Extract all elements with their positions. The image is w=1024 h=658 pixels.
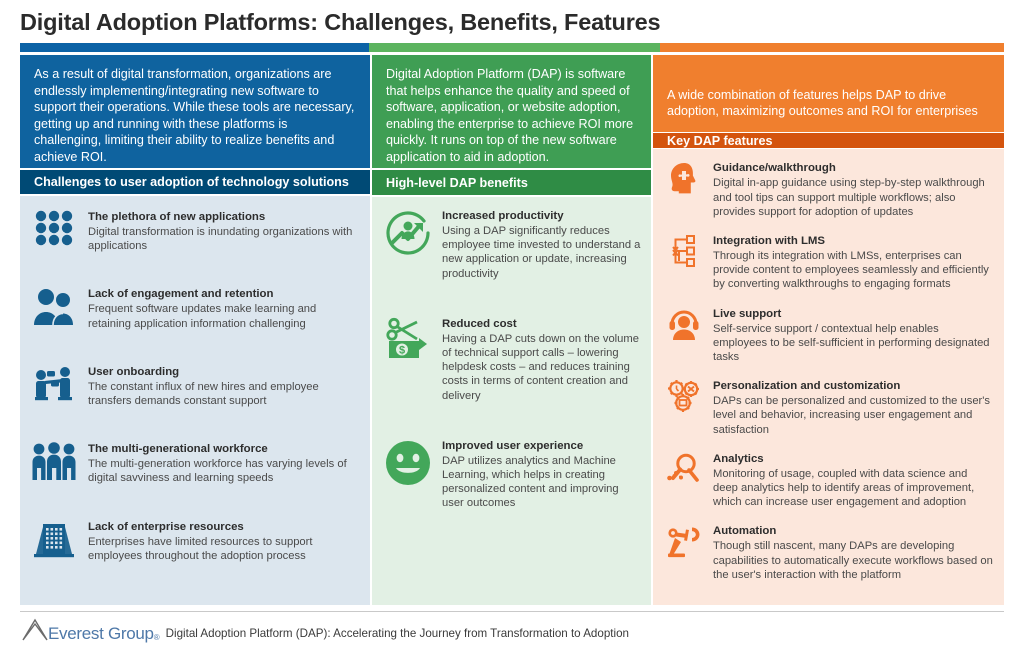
list-item-title: Guidance/walkthrough <box>713 161 994 175</box>
page-title: Digital Adoption Platforms: Challenges, … <box>20 9 660 36</box>
challenges-subheader: Challenges to user adoption of technolog… <box>20 170 370 194</box>
list-item-description: Digital transformation is inundating org… <box>88 225 360 253</box>
column-benefits: Digital Adoption Platform (DAP) is softw… <box>372 55 651 605</box>
list-item[interactable]: Automation Though still nascent, many DA… <box>663 524 994 582</box>
smiley-face-icon <box>382 439 434 487</box>
list-item-text: The plethora of new applications Digital… <box>88 210 360 253</box>
list-item-description: The constant influx of new hires and emp… <box>88 380 360 408</box>
logo-registered-mark: ® <box>154 633 160 642</box>
list-item-text: Lack of engagement and retention Frequen… <box>88 287 360 330</box>
list-item[interactable]: User onboarding The constant influx of n… <box>30 365 360 408</box>
list-item-text: Analytics Monitoring of usage, coupled w… <box>713 452 994 510</box>
list-item-title: The multi-generational workforce <box>88 442 360 456</box>
gears-customization-icon <box>663 379 705 413</box>
list-item-text: Automation Though still nascent, many DA… <box>713 524 994 582</box>
list-item-description: Having a DAP cuts down on the volume of … <box>442 332 641 403</box>
list-item-description: Frequent software updates make learning … <box>88 302 360 330</box>
accent-segment-green <box>369 43 659 52</box>
benefits-subheader: High-level DAP benefits <box>372 170 651 195</box>
infographic-page: Digital Adoption Platforms: Challenges, … <box>0 0 1024 658</box>
list-item[interactable]: Analytics Monitoring of usage, coupled w… <box>663 452 994 510</box>
footer-divider <box>20 611 1004 612</box>
list-item-text: Personalization and customization DAPs c… <box>713 379 994 437</box>
svg-text:$: $ <box>399 344 405 356</box>
top-accent-bar <box>20 43 1004 52</box>
list-item-title: Automation <box>713 524 994 538</box>
list-item-description: Digital in-app guidance using step-by-st… <box>713 176 994 219</box>
list-item-text: Guidance/walkthrough Digital in-app guid… <box>713 161 994 219</box>
list-item-title: User onboarding <box>88 365 360 379</box>
list-item-description: Monitoring of usage, coupled with data s… <box>713 467 994 510</box>
accent-segment-orange <box>660 43 1004 52</box>
list-item[interactable]: Guidance/walkthrough Digital in-app guid… <box>663 161 994 219</box>
list-item-title: The plethora of new applications <box>88 210 360 224</box>
list-item-text: Improved user experience DAP utilizes an… <box>442 439 641 511</box>
list-item-title: Personalization and customization <box>713 379 994 393</box>
list-item-description: DAP utilizes analytics and Machine Learn… <box>442 454 641 511</box>
list-item-text: Lack of enterprise resources Enterprises… <box>88 520 360 563</box>
list-item[interactable]: The plethora of new applications Digital… <box>30 210 360 253</box>
features-panel: Guidance/walkthrough Digital in-app guid… <box>653 149 1004 605</box>
list-item-title: Reduced cost <box>442 317 641 331</box>
list-item-description: The multi-generation workforce has varyi… <box>88 457 360 485</box>
list-item-text: Reduced cost Having a DAP cuts down on t… <box>442 317 641 403</box>
columns-container: As a result of digital transformation, o… <box>20 55 1004 605</box>
productivity-growth-arrow-icon <box>382 209 434 255</box>
list-item-title: Improved user experience <box>442 439 641 453</box>
list-item-description: Self-service support / contextual help e… <box>713 322 994 365</box>
list-item-title: Integration with LMS <box>713 234 994 248</box>
logo-text: Everest Group <box>48 625 154 642</box>
list-item[interactable]: Improved user experience DAP utilizes an… <box>382 439 641 511</box>
list-item[interactable]: $ Reduced cost Having a DAP cuts down on… <box>382 317 641 403</box>
list-item-text: Integration with LMS Through its integra… <box>713 234 994 292</box>
list-item[interactable]: Lack of engagement and retention Frequen… <box>30 287 360 330</box>
list-item-description: DAPs can be personalized and customized … <box>713 394 994 437</box>
list-item-title: Analytics <box>713 452 994 466</box>
list-item[interactable]: The multi-generational workforce The mul… <box>30 442 360 485</box>
nine-dots-grid-icon <box>30 210 78 246</box>
everest-peak-icon <box>22 618 48 642</box>
office-building-icon <box>30 520 78 558</box>
list-item[interactable]: Increased productivity Using a DAP signi… <box>382 209 641 281</box>
headset-support-icon <box>663 307 705 341</box>
list-item[interactable]: Lack of enterprise resources Enterprises… <box>30 520 360 563</box>
everest-group-logo: Everest Group ® <box>22 618 160 642</box>
robot-arm-icon <box>663 524 705 558</box>
list-item-text: The multi-generational workforce The mul… <box>88 442 360 485</box>
features-statement: A wide combination of features helps DAP… <box>653 55 1004 132</box>
list-item-title: Live support <box>713 307 994 321</box>
benefits-panel: Increased productivity Using a DAP signi… <box>372 197 651 605</box>
onboarding-handshake-icon <box>30 365 78 405</box>
head-puzzle-icon <box>663 161 705 195</box>
three-people-icon <box>30 442 78 480</box>
list-item[interactable]: Personalization and customization DAPs c… <box>663 379 994 437</box>
column-features: A wide combination of features helps DAP… <box>653 55 1004 605</box>
list-item[interactable]: Integration with LMS Through its integra… <box>663 234 994 292</box>
list-item[interactable]: Live support Self-service support / cont… <box>663 307 994 365</box>
two-people-icon <box>30 287 78 325</box>
list-item-text: User onboarding The constant influx of n… <box>88 365 360 408</box>
list-item-description: Though still nascent, many DAPs are deve… <box>713 539 994 582</box>
scissors-cutting-money-icon: $ <box>382 317 434 365</box>
list-item-description: Enterprises have limited resources to su… <box>88 535 360 563</box>
list-item-title: Increased productivity <box>442 209 641 223</box>
footer: Everest Group ® Digital Adoption Platfor… <box>22 618 629 642</box>
magnifier-analytics-icon <box>663 452 705 486</box>
integration-nodes-icon <box>663 234 705 268</box>
list-item-description: Using a DAP significantly reduces employ… <box>442 224 641 281</box>
challenges-statement: As a result of digital transformation, o… <box>20 55 370 168</box>
list-item-title: Lack of enterprise resources <box>88 520 360 534</box>
accent-segment-blue <box>20 43 369 52</box>
features-subheader: Key DAP features <box>653 133 1004 148</box>
list-item-description: Through its integration with LMSs, enter… <box>713 249 994 292</box>
list-item-text: Live support Self-service support / cont… <box>713 307 994 365</box>
list-item-text: Increased productivity Using a DAP signi… <box>442 209 641 281</box>
footer-caption: Digital Adoption Platform (DAP): Acceler… <box>166 626 629 642</box>
challenges-panel: The plethora of new applications Digital… <box>20 196 370 605</box>
list-item-title: Lack of engagement and retention <box>88 287 360 301</box>
column-challenges: As a result of digital transformation, o… <box>20 55 370 605</box>
benefits-statement: Digital Adoption Platform (DAP) is softw… <box>372 55 651 168</box>
